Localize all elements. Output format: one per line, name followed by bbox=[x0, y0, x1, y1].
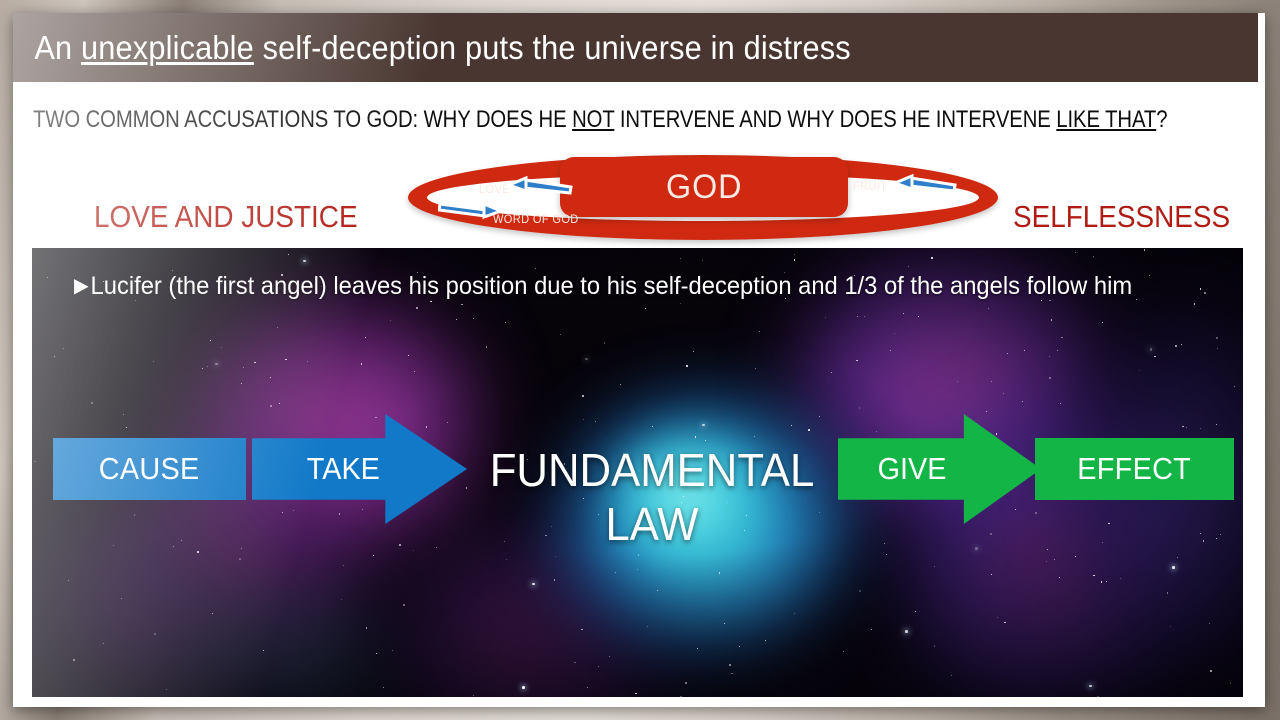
flow-box-cause: CAUSE bbox=[53, 438, 246, 500]
page-title: An unexplicable self-deception puts the … bbox=[13, 29, 851, 67]
arrow-right-word-of-god-icon bbox=[438, 201, 504, 221]
subtitle-part-2: INTERVENE AND WHY DOES HE INTERVENE bbox=[614, 106, 1056, 133]
flow-arrow-give: GIVE bbox=[838, 414, 1041, 524]
slide-title-bar: An unexplicable self-deception puts the … bbox=[13, 13, 1258, 82]
subtitle-underlined-like-that: LIKE THAT bbox=[1056, 106, 1156, 133]
slide-subtitle: TWO COMMON ACCUSATIONS TO GOD: WHY DOES … bbox=[33, 106, 1060, 134]
flow-label-cause: CAUSE bbox=[99, 451, 200, 487]
ring-label-fruit: FRUIT bbox=[853, 179, 887, 193]
space-nebula-image: ▶Lucifer (the first angel) leaves his po… bbox=[32, 248, 1243, 697]
flow-center-fundamental-law: FUNDAMENTAL LAW bbox=[457, 443, 847, 551]
god-center-box: GOD bbox=[560, 157, 848, 217]
arrow-left-fruit-icon bbox=[893, 173, 957, 193]
flow-label-fundamental-law: FUNDAMENTAL LAW bbox=[467, 443, 838, 551]
god-cycle-diagram: GOD LOVE WORD OF GOD FRUIT LOVE AND JUST… bbox=[13, 138, 1265, 256]
flow-box-effect: EFFECT bbox=[1035, 438, 1234, 500]
arrow-left-love-icon bbox=[507, 176, 573, 196]
subtitle-part-1: TWO COMMON ACCUSATIONS TO GOD: WHY DOES … bbox=[33, 106, 572, 133]
title-part-after: self-deception puts the universe in dist… bbox=[254, 29, 851, 66]
flow-label-effect: EFFECT bbox=[1078, 451, 1192, 487]
ring-label-love: LOVE bbox=[479, 182, 510, 196]
side-label-love-and-justice: LOVE AND JUSTICE bbox=[94, 199, 358, 235]
subtitle-underlined-not: NOT bbox=[572, 106, 614, 133]
flow-label-take: TAKE bbox=[307, 451, 380, 487]
flow-label-give: GIVE bbox=[878, 451, 947, 487]
flow-arrow-take: TAKE bbox=[252, 414, 467, 524]
side-label-selflessness: SELFLESSNESS bbox=[1013, 199, 1230, 235]
ring-label-word-of-god: WORD OF GOD bbox=[493, 212, 579, 226]
subtitle-part-3: ? bbox=[1156, 106, 1167, 133]
god-label: GOD bbox=[666, 168, 742, 207]
title-underlined-word: unexplicable bbox=[81, 29, 254, 66]
title-part-before: An bbox=[34, 29, 81, 66]
cause-effect-flow: CAUSE TAKE FUNDAMENTAL LAW GIVE EFFECT bbox=[32, 248, 1243, 697]
slide-canvas: An unexplicable self-deception puts the … bbox=[13, 13, 1265, 707]
